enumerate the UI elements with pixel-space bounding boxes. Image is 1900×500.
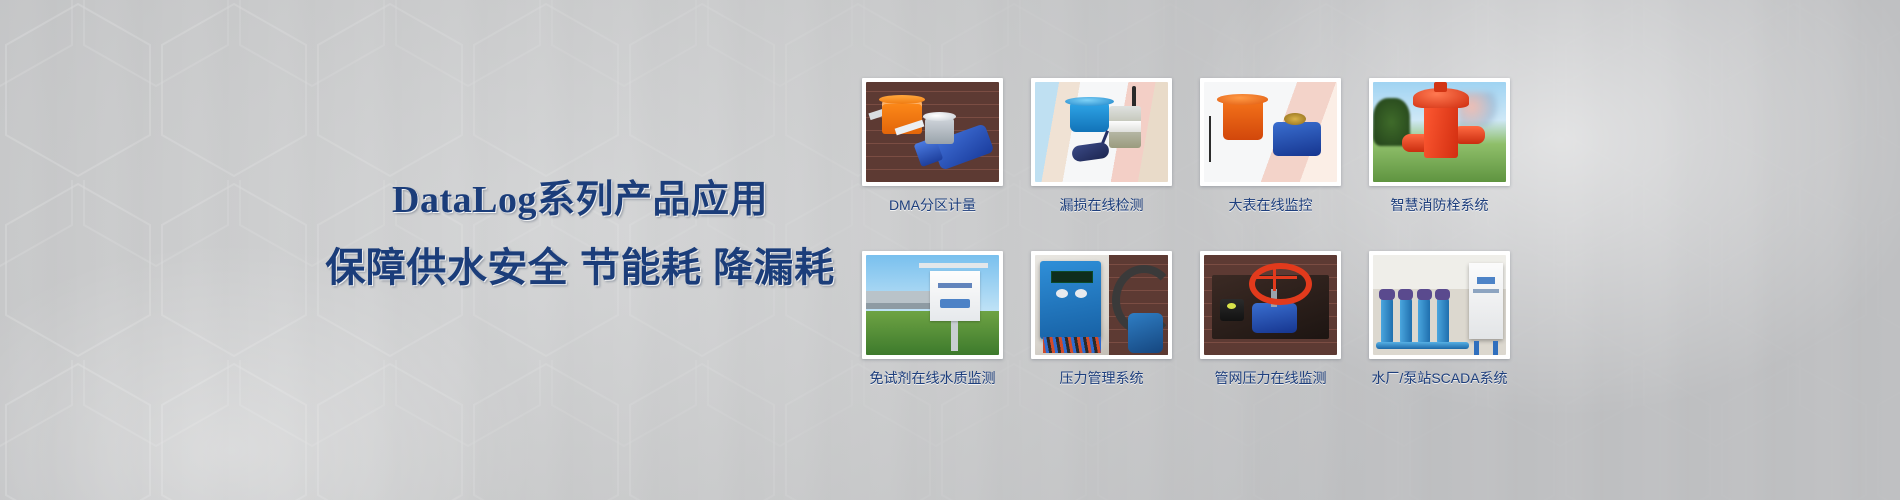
product-thumbnail[interactable] [862,251,1003,359]
product-grid: DMA分区计量 漏损在线检测 [862,78,1510,390]
product-image-reagent-free-water-quality [866,255,999,355]
product-image-smart-hydrant-system [1373,82,1506,182]
product-image-leak-online-detection [1035,82,1168,182]
product-caption: 漏损在线检测 [1031,196,1172,214]
product-caption: 智慧消防栓系统 [1351,196,1528,214]
product-image-pressure-management [1035,255,1168,355]
product-card-reagent-free-water-quality[interactable]: 免试剂在线水质监测 [862,251,1003,390]
headline-cjk: 系列产品应用 [537,179,768,221]
product-thumbnail[interactable] [1369,251,1510,359]
product-caption: 大表在线监控 [1200,196,1341,214]
product-card-smart-hydrant-system[interactable]: 智慧消防栓系统 [1369,78,1510,217]
product-card-scada-system[interactable]: 水厂/泵站SCADA系统 [1369,251,1510,390]
product-card-dma-zone-metering[interactable]: DMA分区计量 [862,78,1003,217]
headline-line-1: DataLog系列产品应用 [300,178,860,222]
headline-line-2: 保障供水安全 节能耗 降漏耗 [300,244,860,292]
product-card-leak-online-detection[interactable]: 漏损在线检测 [1031,78,1172,217]
product-caption: 免试剂在线水质监测 [844,369,1021,387]
headline-block: DataLog系列产品应用 保障供水安全 节能耗 降漏耗 [300,178,860,292]
product-caption: 压力管理系统 [1031,369,1172,387]
product-image-network-pressure-online [1204,255,1337,355]
product-image-dma-zone-metering [866,82,999,182]
product-thumbnail[interactable] [1369,78,1510,186]
product-thumbnail[interactable] [1200,78,1341,186]
product-thumbnail[interactable] [862,78,1003,186]
product-caption: 管网压力在线监测 [1182,369,1359,387]
product-card-large-meter-monitoring[interactable]: 大表在线监控 [1200,78,1341,217]
product-thumbnail[interactable] [1031,78,1172,186]
product-image-large-meter-monitoring [1204,82,1337,182]
product-thumbnail[interactable] [1200,251,1341,359]
product-caption: DMA分区计量 [862,196,1003,214]
headline-latin: DataLog [392,179,537,221]
product-thumbnail[interactable] [1031,251,1172,359]
promo-banner: DataLog系列产品应用 保障供水安全 节能耗 降漏耗 DMA分区计量 [0,0,1900,500]
product-caption: 水厂/泵站SCADA系统 [1351,369,1528,387]
product-card-pressure-management[interactable]: 压力管理系统 [1031,251,1172,390]
product-card-network-pressure-online[interactable]: 管网压力在线监测 [1200,251,1341,390]
product-image-scada-system [1373,255,1506,355]
